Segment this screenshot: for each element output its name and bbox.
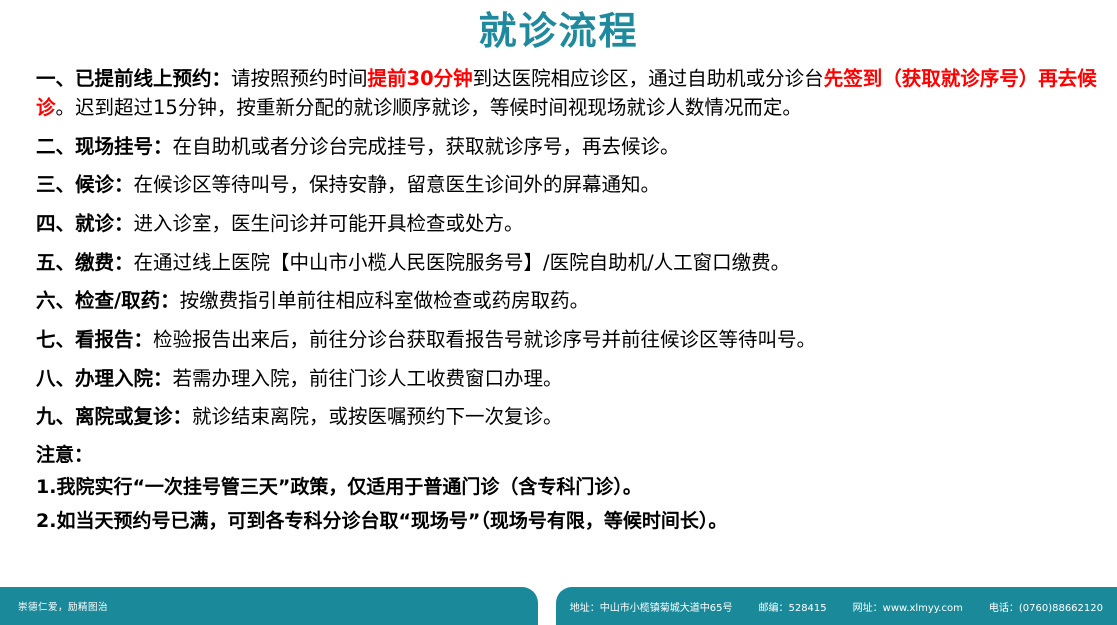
step-lead: 三、候诊： xyxy=(36,173,134,196)
step-body-text: 按缴费指引单前往相应科室做检查或药房取药。 xyxy=(180,289,590,312)
contact-label: 电话： xyxy=(989,603,1019,614)
step-item: 四、就诊：进入诊室，医生问诊并可能开具检查或处方。 xyxy=(36,209,1097,239)
step-item: 六、检查/取药：按缴费指引单前往相应科室做检查或药房取药。 xyxy=(36,286,1097,316)
step-lead: 一、已提前线上预约： xyxy=(36,67,231,90)
step-body-text: 到达医院相应诊区，通过自助机或分诊台 xyxy=(473,67,824,90)
step-body-text: 请按照预约时间 xyxy=(231,67,368,90)
step-lead: 七、看报告： xyxy=(36,328,153,351)
step-highlight-text: 提前30分钟 xyxy=(368,67,473,90)
contact-value: 528415 xyxy=(788,603,826,614)
contact-website: 网址：www.xlmyy.com xyxy=(853,599,963,614)
step-lead: 二、现场挂号： xyxy=(36,135,173,158)
note-line: 2.如当天预约号已满，可到各专科分诊台取“现场号”（现场号有限，等候时间长）。 xyxy=(36,507,1097,536)
steps-list: 一、已提前线上预约：请按照预约时间提前30分钟到达医院相应诊区，通过自助机或分诊… xyxy=(0,56,1117,432)
step-lead: 四、就诊： xyxy=(36,212,134,235)
step-lead: 九、离院或复诊： xyxy=(36,405,192,428)
contact-value: (0760)88662120 xyxy=(1019,603,1103,614)
notes-section: 注意： 1.我院实行“一次挂号管三天”政策，仅适用于普通门诊（含专科门诊）。 2… xyxy=(0,441,1117,536)
step-body-text: 在候诊区等待叫号，保持安静，留意医生诊间外的屏幕通知。 xyxy=(134,173,661,196)
step-lead: 六、检查/取药： xyxy=(36,289,180,312)
hospital-slogan: 崇德仁爱，励精图治 xyxy=(18,599,108,613)
contact-phone: 电话：(0760)88662120 xyxy=(989,599,1103,614)
step-body-text: 。迟到超过15分钟，按重新分配的就诊顺序就诊，等候时间视现场就诊人数情况而定。 xyxy=(56,96,802,119)
step-body-text: 在自助机或者分诊台完成挂号，获取就诊序号，再去候诊。 xyxy=(173,135,680,158)
step-item: 九、离院或复诊：就诊结束离院，或按医嘱预约下一次复诊。 xyxy=(36,402,1097,432)
footer-bar: 崇德仁爱，励精图治 地址：中山市小榄镇菊城大道中65号 邮编：528415 网址… xyxy=(0,587,1117,625)
step-body-text: 若需办理入院，前往门诊人工收费窗口办理。 xyxy=(173,367,563,390)
contact-label: 地址： xyxy=(570,603,600,614)
step-body-text: 在通过线上医院【中山市小榄人民医院服务号】/医院自助机/人工窗口缴费。 xyxy=(134,251,791,274)
step-body-text: 就诊结束离院，或按医嘱预约下一次复诊。 xyxy=(192,405,563,428)
contact-value: www.xlmyy.com xyxy=(883,603,963,614)
step-item: 三、候诊：在候诊区等待叫号，保持安静，留意医生诊间外的屏幕通知。 xyxy=(36,170,1097,200)
contact-postcode: 邮编：528415 xyxy=(758,599,826,614)
footer-gap xyxy=(538,587,555,625)
step-item: 五、缴费：在通过线上医院【中山市小榄人民医院服务号】/医院自助机/人工窗口缴费。 xyxy=(36,248,1097,278)
step-item: 八、办理入院：若需办理入院，前往门诊人工收费窗口办理。 xyxy=(36,364,1097,394)
slide-root: 就诊流程 一、已提前线上预约：请按照预约时间提前30分钟到达医院相应诊区，通过自… xyxy=(0,0,1117,625)
contact-label: 邮编： xyxy=(758,603,788,614)
page-title: 就诊流程 xyxy=(0,0,1117,56)
step-body-text: 检验报告出来后，前往分诊台获取看报告号就诊序号并前往候诊区等待叫号。 xyxy=(153,328,816,351)
notes-title: 注意： xyxy=(36,441,1097,470)
contact-label: 网址： xyxy=(853,603,883,614)
contact-address: 地址：中山市小榄镇菊城大道中65号 xyxy=(570,599,733,614)
note-line: 1.我院实行“一次挂号管三天”政策，仅适用于普通门诊（含专科门诊）。 xyxy=(36,473,1097,502)
contact-value: 中山市小榄镇菊城大道中65号 xyxy=(600,603,733,614)
step-body-text: 进入诊室，医生问诊并可能开具检查或处方。 xyxy=(134,212,524,235)
step-lead: 八、办理入院： xyxy=(36,367,173,390)
footer-left-panel: 崇德仁爱，励精图治 xyxy=(0,587,538,625)
step-item: 二、现场挂号：在自助机或者分诊台完成挂号，获取就诊序号，再去候诊。 xyxy=(36,132,1097,162)
footer-contact-panel: 地址：中山市小榄镇菊城大道中65号 邮编：528415 网址：www.xlmyy… xyxy=(556,587,1117,625)
step-item: 一、已提前线上预约：请按照预约时间提前30分钟到达医院相应诊区，通过自助机或分诊… xyxy=(36,64,1097,123)
step-lead: 五、缴费： xyxy=(36,251,134,274)
step-item: 七、看报告：检验报告出来后，前往分诊台获取看报告号就诊序号并前往候诊区等待叫号。 xyxy=(36,325,1097,355)
